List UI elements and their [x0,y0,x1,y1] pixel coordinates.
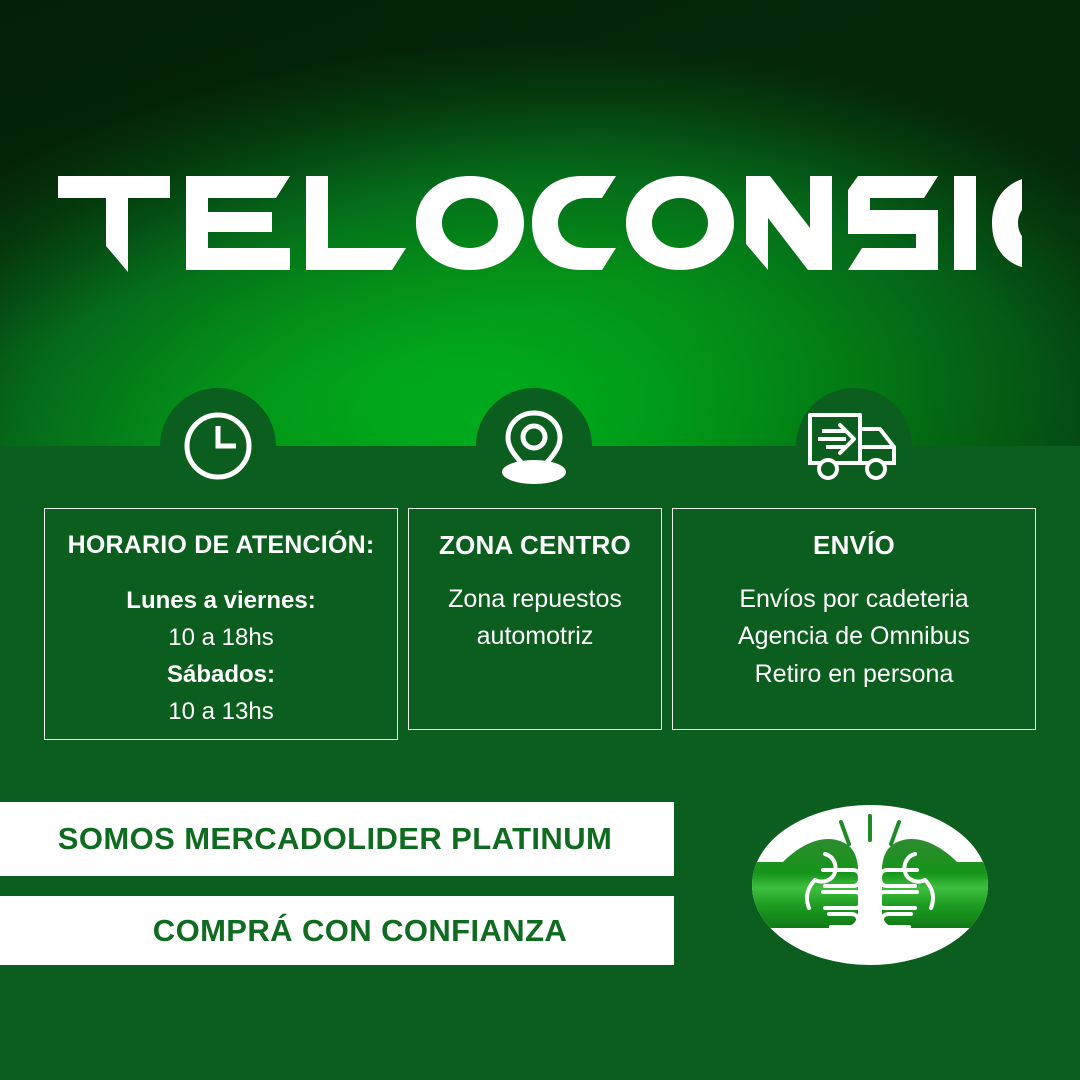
card-line: 10 a 13hs [57,693,385,730]
fist-bump-icon [745,800,995,970]
card-line: Envíos por cadeteria [685,581,1023,619]
card-envio: ENVÍO Envíos por cadeteria Agencia de Om… [672,508,1036,730]
card-line: automotriz [421,618,649,656]
card-line: Sábados: [57,656,385,693]
brand-wordmark [0,168,1080,280]
banner-confianza: COMPRÁ CON CONFIANZA [0,896,674,965]
card-title: ENVÍO [685,531,1023,561]
banner-label: SOMOS MERCADOLIDER PLATINUM [58,821,612,857]
info-cards-row: HORARIO DE ATENCIÓN: Lunes a viernes: 10… [0,446,1080,740]
card-title: HORARIO DE ATENCIÓN: [57,531,385,560]
card-zona: ZONA CENTRO Zona repuestos automotriz [408,508,662,730]
card-line: 10 a 18hs [57,619,385,656]
card-horario: HORARIO DE ATENCIÓN: Lunes a viernes: 10… [44,508,398,740]
card-line: Zona repuestos [421,581,649,619]
card-line: Retiro en persona [685,656,1023,694]
banner-label: COMPRÁ CON CONFIANZA [153,913,567,949]
card-line: Lunes a viernes: [57,582,385,619]
banner-mercadolider: SOMOS MERCADOLIDER PLATINUM [0,802,674,876]
card-title: ZONA CENTRO [421,531,649,561]
teloconsigo-logo-icon [58,176,1022,272]
card-line: Agencia de Omnibus [685,618,1023,656]
